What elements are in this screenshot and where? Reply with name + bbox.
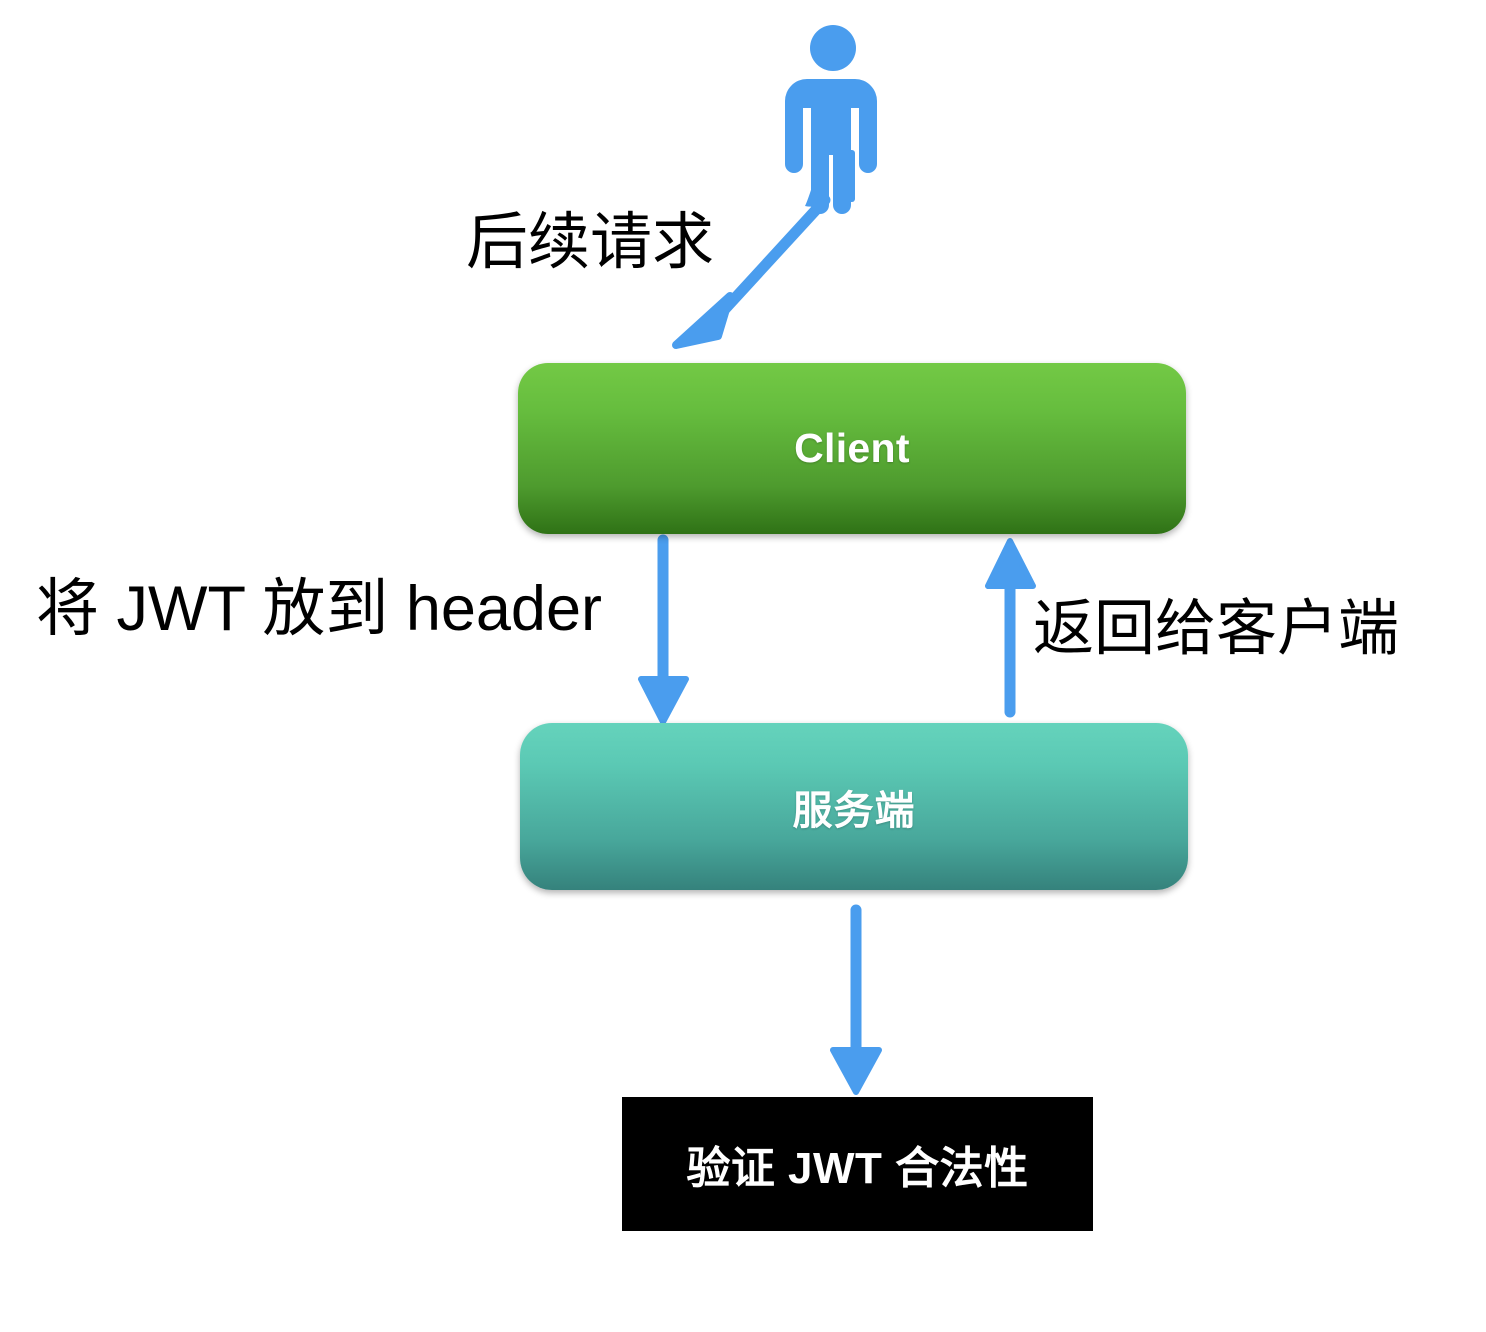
node-server-label: 服务端 xyxy=(793,778,916,836)
arrow-server-to-client xyxy=(988,541,1033,712)
person-icon xyxy=(785,25,877,214)
edge-label-return-to-client: 返回给客户端 xyxy=(1033,598,1399,659)
node-verify-jwt[interactable]: 验证 JWT 合法性 xyxy=(622,1097,1093,1231)
node-client[interactable]: Client xyxy=(518,363,1186,534)
diagram-canvas: Client 服务端 验证 JWT 合法性 后续请求 将 JWT 放到 head… xyxy=(0,0,1486,1332)
node-verify-jwt-label: 验证 JWT 合法性 xyxy=(686,1132,1028,1196)
arrow-client-to-server xyxy=(641,540,686,722)
node-server[interactable]: 服务端 xyxy=(520,723,1188,890)
arrow-server-to-verify xyxy=(833,910,879,1092)
edge-label-subsequent-request: 后续请求 xyxy=(466,212,714,274)
node-client-label: Client xyxy=(794,425,910,472)
edge-label-jwt-to-header: 将 JWT 放到 header xyxy=(36,578,602,641)
